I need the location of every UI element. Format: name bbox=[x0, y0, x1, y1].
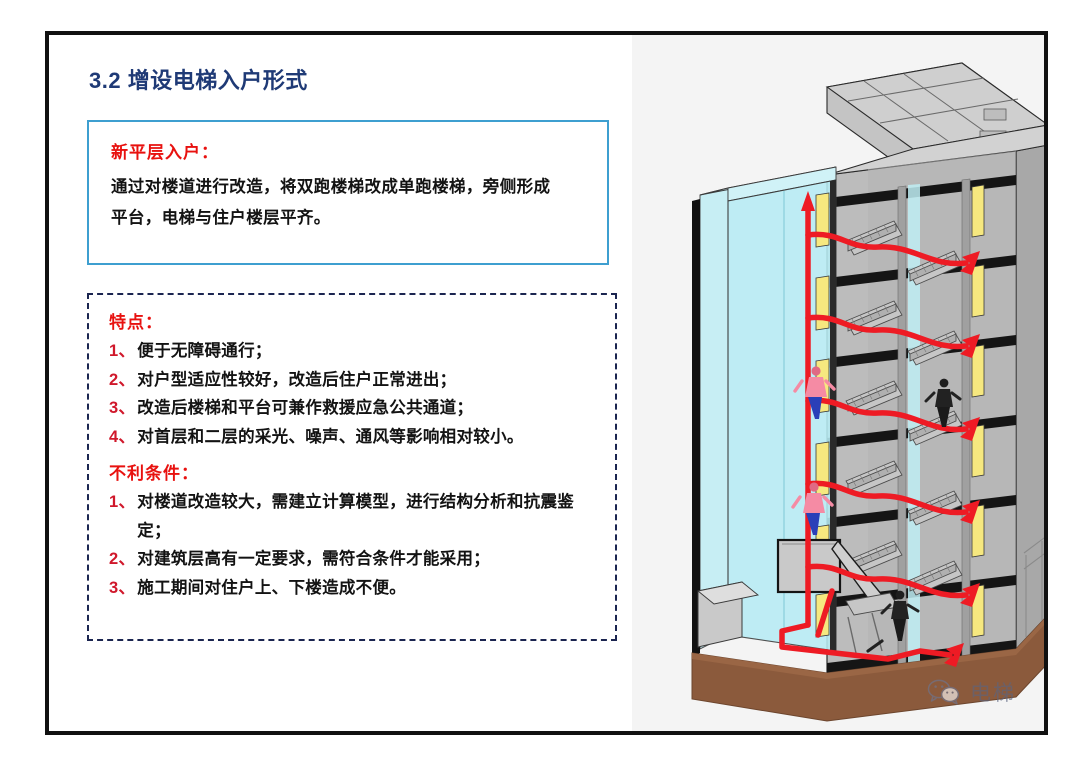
features-heading: 特点： bbox=[109, 308, 601, 333]
summary-heading: 新平层入户： bbox=[111, 138, 589, 163]
details-box: 特点： 1、 便于无障碍通行； 2、 对户型适应性较好，改造后住户正常进出； 3… bbox=[87, 293, 617, 641]
feature-item-number: 3、 bbox=[109, 394, 135, 423]
summary-body: 通过对楼道进行改造，将双跑楼梯改成单跑楼梯，旁侧形成 平台，电梯与住户楼层平齐。 bbox=[111, 172, 589, 233]
feature-item-number: 1、 bbox=[109, 337, 135, 366]
drawback-item-text: 对建筑层高有一定要求，需符合条件才能采用； bbox=[137, 545, 601, 574]
feature-item-text: 对户型适应性较好，改造后住户正常进出； bbox=[137, 366, 601, 395]
feature-item: 1、 便于无障碍通行； bbox=[109, 337, 601, 366]
feature-item: 2、 对户型适应性较好，改造后住户正常进出； bbox=[109, 366, 601, 395]
feature-item-text: 便于无障碍通行； bbox=[137, 337, 601, 366]
wechat-icon bbox=[927, 679, 961, 705]
drawback-item-text: 对楼道改造较大，需建立计算模型，进行结构分析和抗震鉴定； bbox=[137, 488, 601, 545]
feature-item-text: 改造后楼梯和平台可兼作救援应急公共通道； bbox=[137, 394, 601, 423]
drawback-item-number: 3、 bbox=[109, 574, 135, 603]
feature-item-number: 2、 bbox=[109, 366, 135, 395]
feature-item: 4、 对首层和二层的采光、噪声、通风等影响相对较小。 bbox=[109, 423, 601, 452]
drawback-item-number: 1、 bbox=[109, 488, 135, 517]
feature-item-text: 对首层和二层的采光、噪声、通风等影响相对较小。 bbox=[137, 423, 601, 452]
summary-box: 新平层入户： 通过对楼道进行改造，将双跑楼梯改成单跑楼梯，旁侧形成 平台，电梯与… bbox=[87, 120, 609, 265]
feature-item-number: 4、 bbox=[109, 423, 135, 452]
drawback-item: 3、 施工期间对住户上、下楼造成不便。 bbox=[109, 574, 601, 603]
drawback-item-number: 2、 bbox=[109, 545, 135, 574]
drawback-item-text: 施工期间对住户上、下楼造成不便。 bbox=[137, 574, 601, 603]
drawback-item: 2、 对建筑层高有一定要求，需符合条件才能采用； bbox=[109, 545, 601, 574]
building-section-elevator-diagram bbox=[632, 35, 1048, 735]
slide-frame: 3.2 增设电梯入户形式 新平层入户： 通过对楼道进行改造，将双跑楼梯改成单跑楼… bbox=[45, 31, 1048, 735]
drawback-item: 1、 对楼道改造较大，需建立计算模型，进行结构分析和抗震鉴定； bbox=[109, 488, 601, 545]
feature-item: 3、 改造后楼梯和平台可兼作救援应急公共通道； bbox=[109, 394, 601, 423]
watermark-label: 电梯 bbox=[970, 677, 1016, 707]
summary-line: 通过对楼道进行改造，将双跑楼梯改成单跑楼梯，旁侧形成 bbox=[111, 172, 589, 203]
page-title: 3.2 增设电梯入户形式 bbox=[89, 63, 308, 95]
drawbacks-heading: 不利条件： bbox=[109, 459, 601, 484]
summary-line: 平台，电梯与住户楼层平齐。 bbox=[111, 203, 589, 234]
watermark: 电梯 bbox=[927, 677, 1016, 707]
